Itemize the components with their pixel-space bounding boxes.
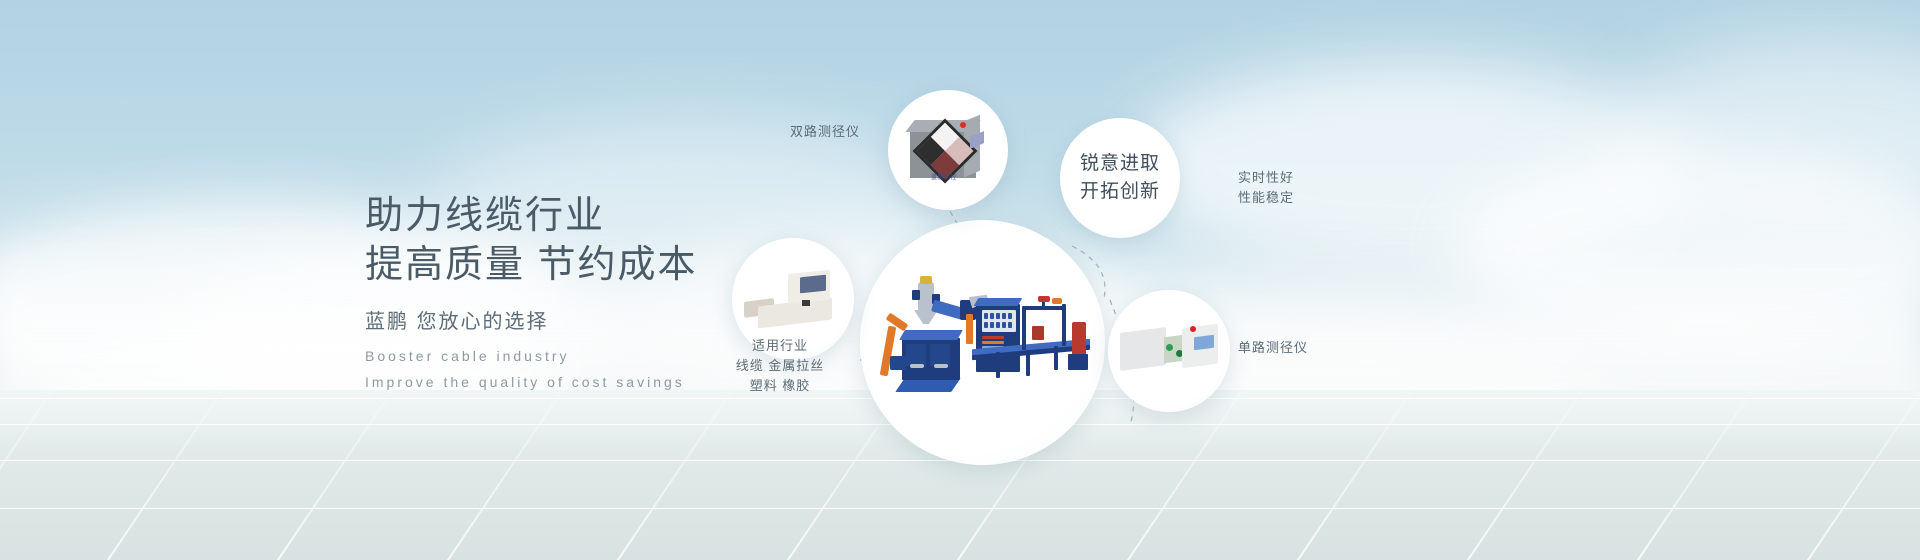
extrusion-line-illustration <box>876 260 1090 400</box>
label-performance: 实时性好 性能稳定 <box>1238 168 1294 208</box>
single-gauge-bubble[interactable] <box>1108 290 1230 412</box>
slogan-line-2: 开拓创新 <box>1080 178 1160 206</box>
main-product-bubble[interactable] <box>860 220 1105 465</box>
single-gauge-illustration <box>1120 324 1220 378</box>
console-screen <box>800 275 826 294</box>
power-led <box>1190 326 1196 332</box>
dual-gauge-bubble[interactable]: 蓝鹏测控 <box>888 90 1008 210</box>
slogan-text: 锐意进取 开拓创新 <box>1060 118 1180 238</box>
status-indicator-led <box>960 122 966 128</box>
label-applicable-industries: 适用行业 线缆 金属拉丝 塑料 橡胶 <box>715 336 845 396</box>
industry-line-1: 线缆 金属拉丝 <box>715 356 845 376</box>
gauge-display <box>1194 335 1214 350</box>
label-dual-gauge: 双路测径仪 <box>790 122 860 142</box>
label-performance-line-1: 实时性好 <box>1238 168 1294 188</box>
control-console-illustration <box>744 270 842 330</box>
label-performance-line-2: 性能稳定 <box>1238 188 1294 208</box>
label-single-gauge: 单路测径仪 <box>1238 338 1308 358</box>
industry-title: 适用行业 <box>715 336 845 356</box>
dual-gauge-illustration: 蓝鹏测控 <box>908 112 988 188</box>
slogan-bubble: 锐意进取 开拓创新 <box>1060 118 1180 238</box>
product-brand-label: 蓝鹏测控 <box>914 172 974 181</box>
industry-line-2: 塑料 橡胶 <box>715 376 845 396</box>
slogan-line-1: 锐意进取 <box>1080 150 1160 178</box>
hero-banner: 助力线缆行业 提高质量 节约成本 蓝鹏 您放心的选择 Booster cable… <box>0 0 1920 560</box>
product-composition: 蓝鹏测控 <box>860 0 1920 560</box>
